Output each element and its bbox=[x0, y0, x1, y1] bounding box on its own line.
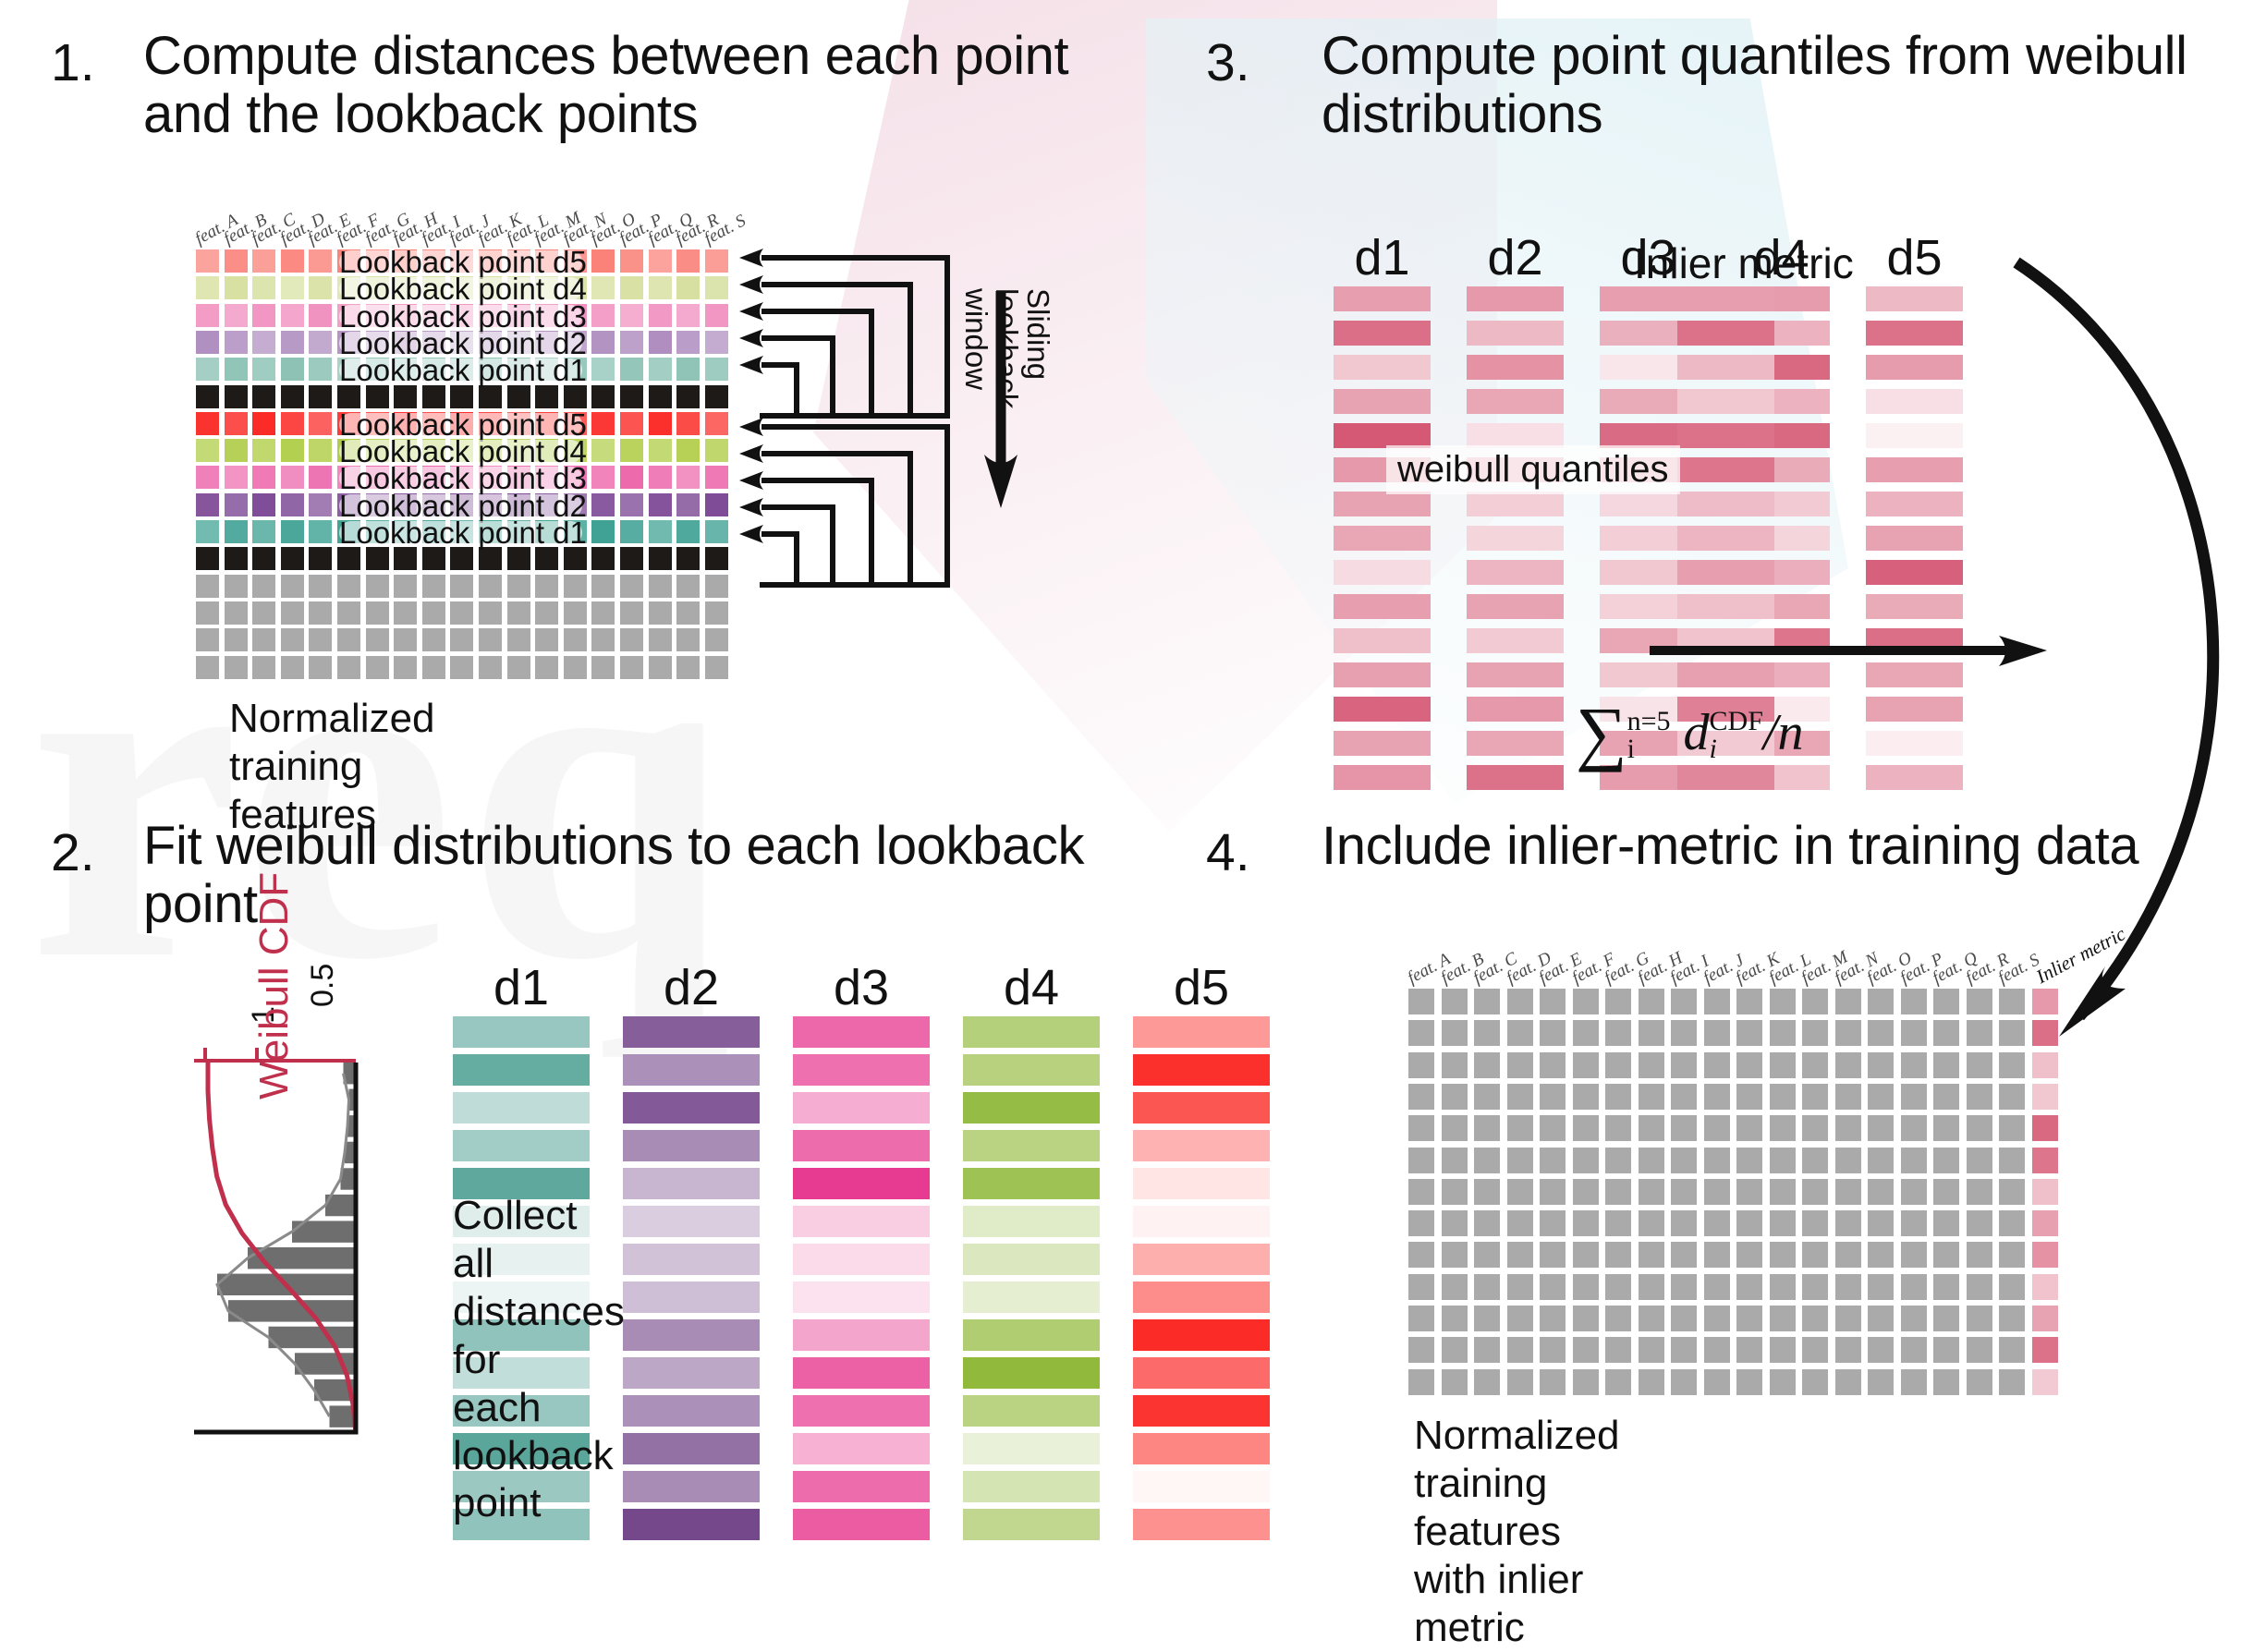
matrix-cell bbox=[309, 358, 332, 381]
distance-bar bbox=[1133, 1206, 1270, 1237]
distance-bar bbox=[963, 1168, 1100, 1199]
matrix-cell bbox=[394, 385, 417, 408]
matrix-cell bbox=[1639, 1210, 1664, 1236]
distance-bar bbox=[1133, 1509, 1270, 1540]
matrix-cell bbox=[1573, 1179, 1599, 1205]
matrix-cell bbox=[705, 439, 728, 462]
matrix-cell bbox=[196, 304, 219, 327]
matrix-cell bbox=[225, 412, 248, 435]
matrix-cell bbox=[1442, 1148, 1468, 1173]
matrix-cell bbox=[422, 385, 445, 408]
matrix-cell bbox=[1933, 1274, 1959, 1300]
quantile-column-label-d1: d1 bbox=[1334, 229, 1431, 286]
matrix-cell bbox=[1704, 1337, 1730, 1363]
matrix-cell bbox=[1474, 1020, 1500, 1046]
matrix-cell bbox=[309, 412, 332, 435]
distance-bar bbox=[623, 1319, 760, 1351]
matrix-cell bbox=[1605, 1337, 1631, 1363]
matrix-cell bbox=[1671, 989, 1697, 1014]
matrix-cell bbox=[507, 547, 530, 570]
matrix-cell bbox=[309, 493, 332, 516]
matrix-cell bbox=[196, 385, 219, 408]
matrix-cell bbox=[196, 439, 219, 462]
matrix-cell bbox=[252, 547, 275, 570]
matrix-cell bbox=[649, 304, 672, 327]
matrix-cell bbox=[649, 466, 672, 489]
matrix-cell bbox=[281, 628, 304, 651]
matrix-cell bbox=[1573, 1337, 1599, 1363]
matrix-cell bbox=[1967, 1210, 1992, 1236]
matrix-cell bbox=[676, 358, 700, 381]
matrix-cell bbox=[1802, 1242, 1828, 1268]
matrix-cell bbox=[1442, 1179, 1468, 1205]
matrix-cell bbox=[1442, 1210, 1468, 1236]
matrix-cell bbox=[281, 385, 304, 408]
matrix-cell bbox=[1835, 1179, 1861, 1205]
histogram-bar bbox=[269, 1327, 357, 1348]
matrix-cell bbox=[196, 601, 219, 625]
matrix-cell bbox=[1507, 1179, 1533, 1205]
matrix-cell bbox=[1474, 1115, 1500, 1141]
matrix-cell bbox=[535, 656, 558, 679]
matrix-cell bbox=[535, 547, 558, 570]
matrix-cell bbox=[1770, 1274, 1796, 1300]
matrix-cell bbox=[1639, 1274, 1664, 1300]
matrix-cell bbox=[1770, 1020, 1796, 1046]
inlier-metric-bar bbox=[1677, 355, 1774, 380]
matrix-cell bbox=[676, 656, 700, 679]
quantile-bar bbox=[1467, 594, 1564, 619]
matrix-cell bbox=[591, 628, 615, 651]
inlier-metric-cell bbox=[2032, 1242, 2058, 1268]
distance-bar bbox=[793, 1168, 930, 1199]
distance-bar bbox=[453, 1130, 590, 1161]
matrix-cell bbox=[1770, 1369, 1796, 1395]
matrix-cell bbox=[620, 493, 643, 516]
sliding-lookback-window-label: Sliding lookback window bbox=[960, 288, 1054, 408]
matrix-cell bbox=[1770, 1084, 1796, 1110]
quantile-bar bbox=[1467, 526, 1564, 551]
quantile-bar bbox=[1866, 731, 1963, 756]
quantile-bar bbox=[1467, 765, 1564, 790]
matrix-cell bbox=[1704, 989, 1730, 1014]
matrix-cell bbox=[1736, 1148, 1762, 1173]
quantile-bar bbox=[1334, 594, 1431, 619]
matrix-cell bbox=[705, 628, 728, 651]
matrix-cell bbox=[252, 249, 275, 273]
matrix-cell bbox=[1408, 989, 1434, 1014]
matrix-cell bbox=[620, 249, 643, 273]
matrix-cell bbox=[309, 601, 332, 625]
matrix-cell bbox=[1474, 1242, 1500, 1268]
matrix-cell bbox=[196, 547, 219, 570]
matrix-cell bbox=[1835, 1369, 1861, 1395]
matrix-cell bbox=[1967, 1242, 1992, 1268]
matrix-cell bbox=[1802, 1084, 1828, 1110]
distance-bar bbox=[963, 1282, 1100, 1313]
matrix-cell bbox=[479, 385, 502, 408]
distance-bar bbox=[793, 1206, 930, 1237]
matrix-cell bbox=[535, 575, 558, 598]
matrix-cell bbox=[676, 466, 700, 489]
inlier-metric-formula: ∑n=5i dCDFi/n bbox=[1576, 684, 1803, 767]
matrix-cell bbox=[1901, 1052, 1927, 1078]
inlier-metric-bar bbox=[1677, 526, 1774, 551]
matrix-cell bbox=[1605, 1242, 1631, 1268]
matrix-cell bbox=[1573, 1084, 1599, 1110]
matrix-cell bbox=[1671, 1020, 1697, 1046]
matrix-cell bbox=[591, 385, 615, 408]
matrix-cell bbox=[1933, 989, 1959, 1014]
distance-bar bbox=[793, 1282, 930, 1313]
inlier-metric-cell bbox=[2032, 1210, 2058, 1236]
matrix-cell bbox=[450, 385, 473, 408]
matrix-cell bbox=[1999, 1210, 2025, 1236]
matrix-cell bbox=[337, 385, 360, 408]
connector-arrowhead bbox=[739, 356, 763, 374]
quantile-bar bbox=[1467, 662, 1564, 687]
formula-lower: i bbox=[1627, 735, 1671, 763]
matrix-cell bbox=[1868, 1369, 1894, 1395]
matrix-cell bbox=[281, 412, 304, 435]
matrix-cell bbox=[196, 331, 219, 354]
matrix-cell bbox=[649, 249, 672, 273]
matrix-cell bbox=[1802, 1369, 1828, 1395]
quantile-bar bbox=[1866, 526, 1963, 551]
matrix-cell bbox=[1408, 1179, 1434, 1205]
matrix-cell bbox=[281, 493, 304, 516]
matrix-cell bbox=[1868, 1337, 1894, 1363]
matrix-cell bbox=[591, 466, 615, 489]
matrix-cell bbox=[1540, 1115, 1566, 1141]
matrix-cell bbox=[564, 601, 587, 625]
inlier-metric-flow-arrow bbox=[1987, 249, 2254, 1063]
matrix-cell bbox=[1704, 1148, 1730, 1173]
matrix-cell bbox=[1736, 1337, 1762, 1363]
matrix-cell bbox=[1802, 1148, 1828, 1173]
matrix-cell bbox=[591, 412, 615, 435]
matrix-cell bbox=[252, 656, 275, 679]
matrix-cell bbox=[1967, 1369, 1992, 1395]
matrix-cell bbox=[1573, 1052, 1599, 1078]
inlier-metric-bar bbox=[1677, 286, 1774, 311]
matrix-cell bbox=[1704, 1242, 1730, 1268]
quantile-bar bbox=[1866, 560, 1963, 585]
matrix-cell bbox=[1408, 1306, 1434, 1331]
panel2-caption: Collect all distances for each lookback … bbox=[453, 1192, 625, 1527]
matrix-cell bbox=[1408, 1337, 1434, 1363]
matrix-cell bbox=[422, 547, 445, 570]
matrix-cell bbox=[422, 656, 445, 679]
matrix-cell bbox=[1605, 1210, 1631, 1236]
distance-bar bbox=[453, 1016, 590, 1048]
matrix-cell bbox=[1507, 1306, 1533, 1331]
matrix-cell bbox=[366, 575, 389, 598]
matrix-cell bbox=[620, 656, 643, 679]
lookback-connector bbox=[761, 454, 910, 585]
matrix-cell bbox=[1408, 1084, 1434, 1110]
matrix-cell bbox=[1671, 1052, 1697, 1078]
distance-bar bbox=[963, 1130, 1100, 1161]
matrix-cell bbox=[676, 575, 700, 598]
distance-bar bbox=[623, 1433, 760, 1464]
matrix-cell bbox=[394, 547, 417, 570]
connector-arrowhead bbox=[739, 444, 763, 463]
matrix-cell bbox=[309, 575, 332, 598]
matrix-cell bbox=[309, 547, 332, 570]
distance-column-label-d5: d5 bbox=[1133, 959, 1270, 1016]
matrix-cell bbox=[705, 331, 728, 354]
matrix-cell bbox=[1736, 1242, 1762, 1268]
matrix-cell bbox=[1442, 989, 1468, 1014]
matrix-cell bbox=[649, 520, 672, 543]
inlier-metric-bar bbox=[1677, 492, 1774, 516]
distance-bar bbox=[793, 1471, 930, 1502]
formula-dsup: CDF bbox=[1710, 708, 1763, 735]
quantile-bar bbox=[1467, 628, 1564, 653]
lookback-connector bbox=[761, 285, 910, 416]
matrix-cell bbox=[1835, 1274, 1861, 1300]
matrix-cell bbox=[1704, 1274, 1730, 1300]
matrix-cell bbox=[479, 547, 502, 570]
matrix-cell bbox=[676, 628, 700, 651]
matrix-cell bbox=[620, 520, 643, 543]
matrix-cell bbox=[1474, 1148, 1500, 1173]
matrix-cell bbox=[1605, 1369, 1631, 1395]
matrix-cell bbox=[225, 249, 248, 273]
matrix-cell bbox=[1835, 989, 1861, 1014]
distance-bar bbox=[963, 1244, 1100, 1275]
distance-bar bbox=[793, 1509, 930, 1540]
matrix-cell bbox=[1770, 1306, 1796, 1331]
matrix-cell bbox=[1507, 1210, 1533, 1236]
matrix-cell bbox=[1474, 1179, 1500, 1205]
matrix-cell bbox=[252, 493, 275, 516]
connector-arrowhead bbox=[739, 471, 763, 490]
matrix-cell bbox=[281, 520, 304, 543]
distance-bar bbox=[623, 1509, 760, 1540]
matrix-cell bbox=[1671, 1148, 1697, 1173]
matrix-cell bbox=[1868, 1210, 1894, 1236]
quantile-bar bbox=[1866, 286, 1963, 311]
matrix-cell bbox=[1639, 1052, 1664, 1078]
matrix-cell bbox=[1507, 989, 1533, 1014]
matrix-cell bbox=[1540, 989, 1566, 1014]
matrix-cell bbox=[196, 249, 219, 273]
matrix-cell bbox=[1868, 989, 1894, 1014]
matrix-cell bbox=[1999, 1274, 2025, 1300]
connector-arrowhead bbox=[739, 525, 763, 543]
matrix-cell bbox=[1540, 1052, 1566, 1078]
matrix-cell bbox=[1605, 1306, 1631, 1331]
lookback-point-label: Lookback point d3 bbox=[339, 305, 582, 328]
quantile-bar bbox=[1866, 423, 1963, 448]
inlier-metric-cell bbox=[2032, 1274, 2058, 1300]
matrix-cell bbox=[196, 493, 219, 516]
matrix-cell bbox=[1770, 1148, 1796, 1173]
distance-bar bbox=[793, 1395, 930, 1427]
matrix-cell bbox=[252, 575, 275, 598]
distance-bar bbox=[623, 1016, 760, 1048]
formula-sigma: ∑ bbox=[1576, 692, 1627, 772]
matrix-cell bbox=[564, 385, 587, 408]
quantile-bar bbox=[1334, 526, 1431, 551]
quantile-bar bbox=[1334, 731, 1431, 756]
matrix-cell bbox=[507, 575, 530, 598]
matrix-cell bbox=[1639, 1020, 1664, 1046]
matrix-cell bbox=[252, 331, 275, 354]
matrix-cell bbox=[366, 385, 389, 408]
matrix-cell bbox=[281, 575, 304, 598]
matrix-cell bbox=[252, 439, 275, 462]
matrix-cell bbox=[281, 601, 304, 625]
matrix-cell bbox=[1770, 1337, 1796, 1363]
distance-bar bbox=[1133, 1282, 1270, 1313]
lookback-point-label: Lookback point d4 bbox=[339, 277, 582, 300]
matrix-cell bbox=[1967, 1084, 1992, 1110]
matrix-cell bbox=[705, 656, 728, 679]
matrix-cell bbox=[620, 412, 643, 435]
matrix-cell bbox=[1901, 1274, 1927, 1300]
matrix-cell bbox=[1802, 989, 1828, 1014]
inlier-metric-bar bbox=[1677, 321, 1774, 346]
matrix-cell bbox=[1901, 1337, 1927, 1363]
matrix-cell bbox=[1671, 1210, 1697, 1236]
matrix-cell bbox=[620, 547, 643, 570]
quantile-bar bbox=[1866, 355, 1963, 380]
matrix-cell bbox=[1704, 1210, 1730, 1236]
weibull-quantiles-label: weibull quantiles bbox=[1386, 445, 1680, 494]
matrix-cell bbox=[1802, 1020, 1828, 1046]
matrix-cell bbox=[422, 575, 445, 598]
matrix-cell bbox=[337, 601, 360, 625]
matrix-cell bbox=[1835, 1052, 1861, 1078]
inlier-metric-cell bbox=[2032, 1084, 2058, 1110]
matrix-cell bbox=[1704, 1084, 1730, 1110]
distance-bar bbox=[623, 1206, 760, 1237]
matrix-cell bbox=[564, 628, 587, 651]
matrix-cell bbox=[676, 276, 700, 299]
lookback-point-label: Lookback point d2 bbox=[339, 332, 582, 355]
distance-bar bbox=[1133, 1395, 1270, 1427]
matrix-cell bbox=[225, 331, 248, 354]
matrix-cell bbox=[1540, 1148, 1566, 1173]
matrix-cell bbox=[676, 304, 700, 327]
inlier-metric-bar bbox=[1677, 389, 1774, 414]
matrix-cell bbox=[620, 304, 643, 327]
matrix-cell bbox=[1704, 1052, 1730, 1078]
matrix-cell bbox=[591, 601, 615, 625]
matrix-cell bbox=[281, 331, 304, 354]
matrix-cell bbox=[1442, 1052, 1468, 1078]
matrix-cell bbox=[1540, 1210, 1566, 1236]
matrix-cell bbox=[309, 304, 332, 327]
matrix-cell bbox=[252, 358, 275, 381]
matrix-cell bbox=[1507, 1274, 1533, 1300]
matrix-cell bbox=[1573, 1210, 1599, 1236]
distance-bar bbox=[963, 1509, 1100, 1540]
distance-bar bbox=[793, 1433, 930, 1464]
quantile-bar bbox=[1866, 389, 1963, 414]
matrix-cell bbox=[1408, 1115, 1434, 1141]
quantile-bar bbox=[1866, 697, 1963, 722]
matrix-cell bbox=[1835, 1115, 1861, 1141]
matrix-cell bbox=[1573, 989, 1599, 1014]
matrix-cell bbox=[649, 412, 672, 435]
matrix-cell bbox=[591, 439, 615, 462]
matrix-cell bbox=[450, 547, 473, 570]
matrix-cell bbox=[1442, 1115, 1468, 1141]
matrix-cell bbox=[676, 547, 700, 570]
matrix-cell bbox=[1639, 1148, 1664, 1173]
matrix-cell bbox=[225, 466, 248, 489]
matrix-cell bbox=[1540, 1369, 1566, 1395]
matrix-cell bbox=[1868, 1306, 1894, 1331]
matrix-cell bbox=[1736, 989, 1762, 1014]
distance-bar bbox=[1133, 1471, 1270, 1502]
matrix-cell bbox=[337, 656, 360, 679]
matrix-cell bbox=[225, 493, 248, 516]
matrix-cell bbox=[366, 628, 389, 651]
matrix-cell bbox=[620, 575, 643, 598]
quantile-bar bbox=[1334, 765, 1431, 790]
matrix-cell bbox=[591, 520, 615, 543]
matrix-cell bbox=[1933, 1020, 1959, 1046]
distance-bar bbox=[793, 1319, 930, 1351]
matrix-cell bbox=[196, 276, 219, 299]
quantile-bar bbox=[1334, 662, 1431, 687]
matrix-cell bbox=[1868, 1084, 1894, 1110]
distance-bar bbox=[623, 1092, 760, 1124]
distance-bar bbox=[1133, 1433, 1270, 1464]
matrix-cell bbox=[394, 601, 417, 625]
distance-bar bbox=[453, 1092, 590, 1124]
matrix-cell bbox=[1999, 1084, 2025, 1110]
lookback-point-label: Lookback point d2 bbox=[339, 494, 582, 517]
lookback-point-label: Lookback point d5 bbox=[339, 250, 582, 273]
matrix-cell bbox=[591, 547, 615, 570]
matrix-cell bbox=[196, 520, 219, 543]
matrix-cell bbox=[1933, 1084, 1959, 1110]
matrix-cell bbox=[252, 385, 275, 408]
quantile-bar bbox=[1866, 765, 1963, 790]
matrix-cell bbox=[620, 466, 643, 489]
distance-bar bbox=[963, 1357, 1100, 1389]
connector-arrowhead bbox=[739, 498, 763, 516]
quantile-bar bbox=[1467, 389, 1564, 414]
matrix-cell bbox=[1442, 1274, 1468, 1300]
matrix-cell bbox=[1901, 1179, 1927, 1205]
distance-column-label-d2: d2 bbox=[623, 959, 760, 1016]
matrix-cell bbox=[620, 358, 643, 381]
connector-arrowhead bbox=[739, 302, 763, 321]
matrix-cell bbox=[649, 493, 672, 516]
matrix-cell bbox=[1540, 1274, 1566, 1300]
distance-bar bbox=[963, 1016, 1100, 1048]
matrix-cell bbox=[1474, 989, 1500, 1014]
matrix-cell bbox=[507, 601, 530, 625]
matrix-cell bbox=[1573, 1115, 1599, 1141]
distance-bar bbox=[793, 1016, 930, 1048]
matrix-cell bbox=[1540, 1179, 1566, 1205]
matrix-cell bbox=[620, 601, 643, 625]
matrix-cell bbox=[649, 439, 672, 462]
matrix-cell bbox=[705, 575, 728, 598]
matrix-cell bbox=[1671, 1084, 1697, 1110]
quantile-bar bbox=[1334, 492, 1431, 516]
matrix-cell bbox=[281, 656, 304, 679]
matrix-cell bbox=[1605, 1020, 1631, 1046]
